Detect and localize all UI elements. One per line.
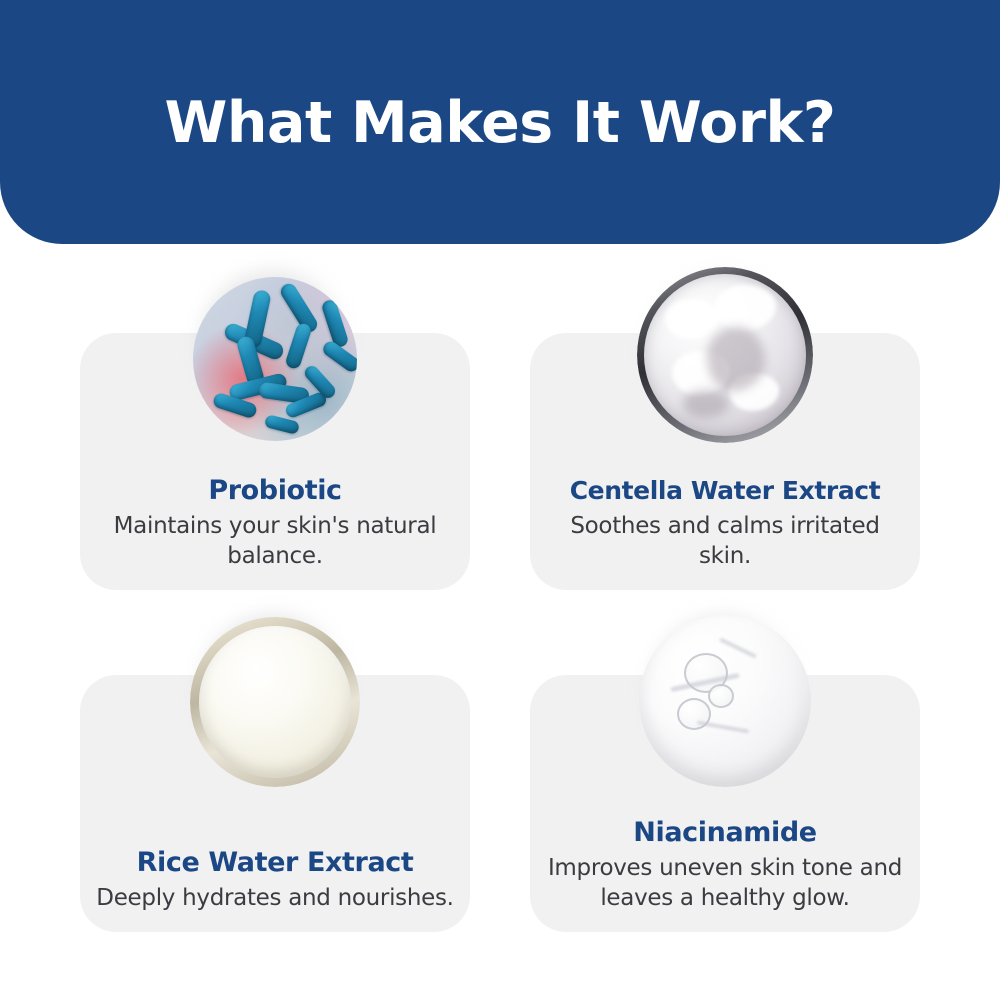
ingredient-title: Rice Water Extract	[94, 847, 456, 878]
ingredient-card-rice-water-extract[interactable]: Rice Water Extract Deeply hydrates and n…	[80, 675, 470, 932]
ingredient-description: Soothes and calms irritated skin.	[544, 512, 906, 572]
ingredient-card-centella-water-extract[interactable]: Centella Water Extract Soothes and calms…	[530, 333, 920, 590]
ingredient-title: Centella Water Extract	[544, 477, 906, 506]
rice-water-dish-image	[190, 617, 360, 787]
ingredient-card-grid: Probiotic Maintains your skin's natural …	[80, 333, 920, 932]
card-text-block: Niacinamide Improves uneven skin tone an…	[544, 817, 906, 914]
ingredient-card-niacinamide[interactable]: Niacinamide Improves uneven skin tone an…	[530, 675, 920, 932]
ingredient-title: Probiotic	[94, 475, 456, 506]
ingredient-card-probiotic[interactable]: Probiotic Maintains your skin's natural …	[80, 333, 470, 590]
card-text-block: Probiotic Maintains your skin's natural …	[94, 475, 456, 572]
page-title: What Makes It Work?	[165, 94, 836, 154]
ingredient-description: Improves uneven skin tone and leaves a h…	[544, 854, 906, 914]
card-text-block: Rice Water Extract Deeply hydrates and n…	[94, 847, 456, 914]
ingredient-description: Maintains your skin's natural balance.	[94, 512, 456, 572]
ingredient-title: Niacinamide	[544, 817, 906, 848]
probiotic-bacteria-image	[193, 277, 357, 441]
niacinamide-gel-image	[639, 615, 811, 787]
centella-powder-dish-image	[637, 267, 813, 443]
card-text-block: Centella Water Extract Soothes and calms…	[544, 477, 906, 572]
ingredient-description: Deeply hydrates and nourishes.	[94, 884, 456, 914]
ingredients-infographic-page: What Makes It Work?	[0, 0, 1000, 1000]
header-banner: What Makes It Work?	[0, 0, 1000, 244]
